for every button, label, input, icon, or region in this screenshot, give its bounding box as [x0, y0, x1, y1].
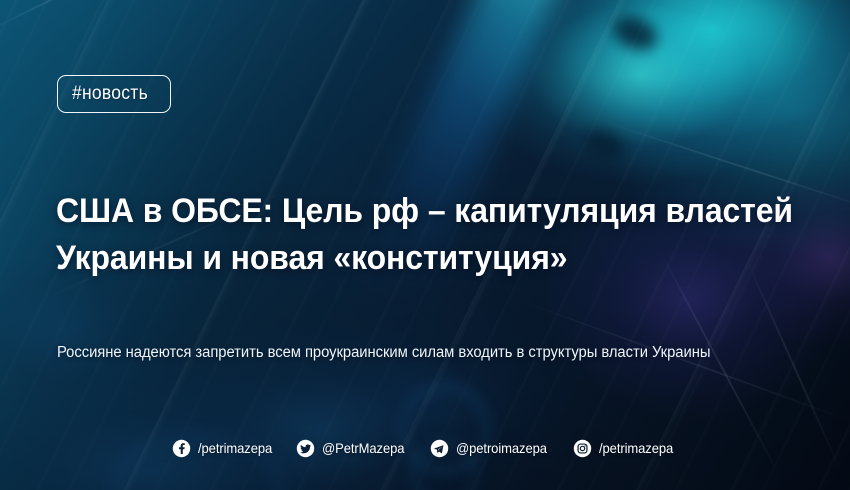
twitter-icon	[296, 439, 315, 458]
social-links-row: /petrimazepa @PetrMazepa @petroimazepa	[0, 433, 850, 463]
social-handle-facebook: /petrimazepa	[198, 440, 272, 456]
card-content: #новость США в ОБСЕ: Цель рф – капитуляц…	[0, 0, 850, 490]
hashtag-badge-label: #новость	[72, 83, 148, 105]
subtitle: Россияне надеются запретить всем проукра…	[57, 344, 710, 362]
telegram-icon	[430, 439, 449, 458]
social-handle-instagram: /petrimazepa	[599, 440, 673, 456]
headline-line-1: США в ОБСЕ: Цель рф – капитуляция власте…	[56, 188, 780, 235]
headline-line-2: Украины и новая «конституция»	[56, 235, 780, 282]
social-link-facebook[interactable]: /petrimazepa	[172, 433, 278, 463]
headline: США в ОБСЕ: Цель рф – капитуляция власте…	[56, 188, 826, 282]
news-card: #новость США в ОБСЕ: Цель рф – капитуляц…	[0, 0, 850, 490]
social-link-telegram[interactable]: @petroimazepa	[430, 433, 554, 463]
social-handle-twitter: @PetrMazepa	[322, 440, 404, 456]
instagram-icon	[573, 439, 592, 458]
social-link-instagram[interactable]: /petrimazepa	[573, 433, 679, 463]
hashtag-badge[interactable]: #новость	[57, 75, 171, 113]
facebook-icon	[172, 439, 191, 458]
social-handle-telegram: @petroimazepa	[456, 440, 547, 456]
social-link-twitter[interactable]: @PetrMazepa	[296, 433, 411, 463]
